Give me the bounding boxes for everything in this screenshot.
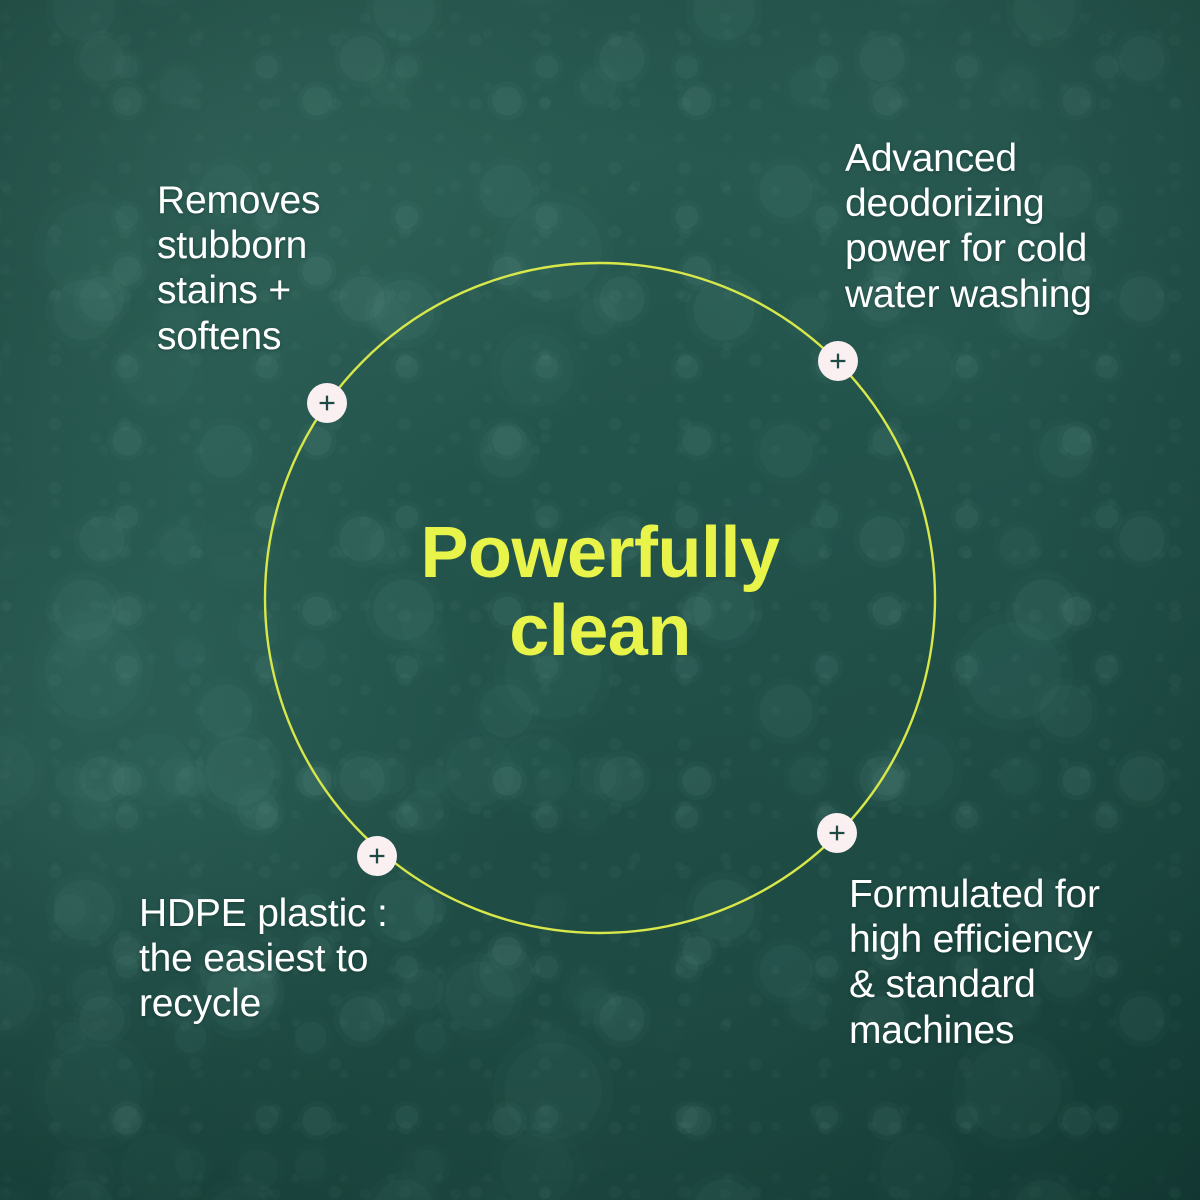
plus-icon bbox=[828, 351, 848, 371]
feature-marker-deodorizing[interactable] bbox=[818, 341, 858, 381]
promo-graphic: Powerfully clean Removes stubborn stains… bbox=[0, 0, 1200, 1200]
plus-icon bbox=[827, 823, 847, 843]
feature-text-recycling: HDPE plastic : the easiest to recycle bbox=[139, 891, 469, 1027]
headline-line-2: clean bbox=[350, 593, 850, 671]
headline: Powerfully clean bbox=[350, 515, 850, 671]
feature-marker-stains[interactable] bbox=[307, 383, 347, 423]
feature-text-stains: Removes stubborn stains + softens bbox=[157, 178, 487, 359]
plus-icon bbox=[367, 846, 387, 866]
plus-icon bbox=[317, 393, 337, 413]
feature-text-deodorizing: Advanced deodorizing power for cold wate… bbox=[845, 136, 1185, 317]
headline-line-1: Powerfully bbox=[350, 515, 850, 593]
feature-marker-machines[interactable] bbox=[817, 813, 857, 853]
feature-text-machines: Formulated for high efficiency & standar… bbox=[849, 872, 1179, 1053]
feature-marker-recycling[interactable] bbox=[357, 836, 397, 876]
